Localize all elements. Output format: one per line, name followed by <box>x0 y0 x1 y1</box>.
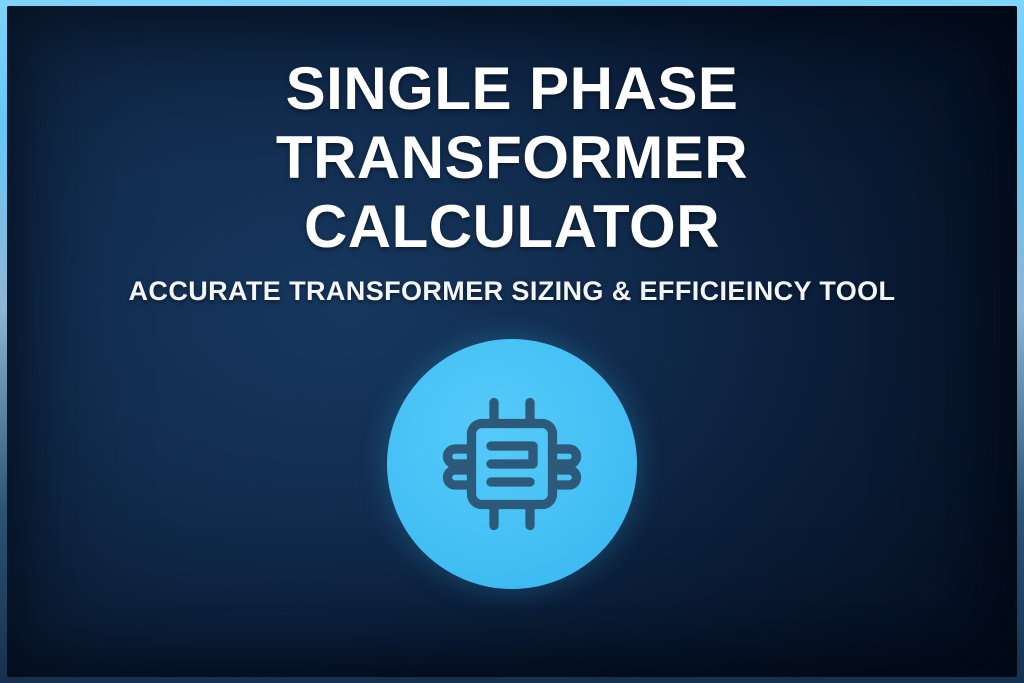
banner-content: SINGLE PHASE TRANSFORMER CALCULATOR ACCU… <box>7 6 1017 677</box>
title-line-3: CALCULATOR <box>7 192 1017 261</box>
title-line-2: TRANSFORMER <box>7 123 1017 192</box>
microchip-icon-badge <box>387 339 637 589</box>
page-subtitle: ACCURATE TRANSFORMER SIZING & EFFICIEINC… <box>129 275 896 307</box>
page-title: SINGLE PHASE TRANSFORMER CALCULATOR <box>7 54 1017 261</box>
banner-card: SINGLE PHASE TRANSFORMER CALCULATOR ACCU… <box>0 0 1024 683</box>
title-line-1: SINGLE PHASE <box>7 54 1017 123</box>
banner-inner-panel: SINGLE PHASE TRANSFORMER CALCULATOR ACCU… <box>7 6 1017 677</box>
microchip-icon <box>437 389 587 539</box>
